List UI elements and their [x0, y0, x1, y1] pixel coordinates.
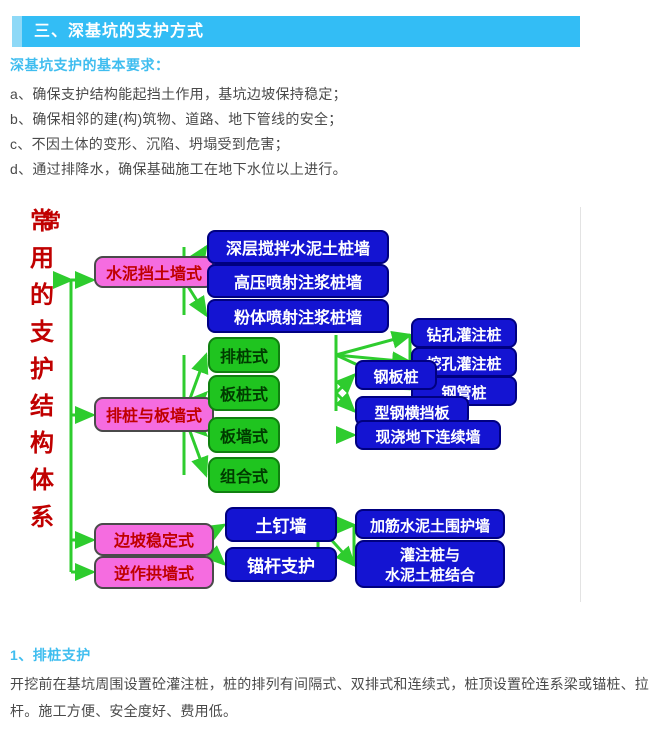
- requirement-item: b、确保相邻的建(构)筑物、道路、地下管线的安全；: [10, 107, 650, 132]
- node-label: 板墙式: [220, 427, 268, 446]
- root-label-char: 的: [30, 281, 54, 309]
- requirement-item: d、通过排降水，确保基础施工在地下水位以上进行。: [10, 157, 650, 182]
- node-row-pile-type[interactable]: 排桩式: [209, 338, 279, 372]
- node-sheet-pile-type[interactable]: 板桩式: [209, 376, 279, 410]
- node-cement-retaining-wall[interactable]: 水泥挡土墙式: [95, 257, 213, 287]
- node-label: 现浇地下连续墙: [375, 428, 480, 446]
- node-label: 组合式: [220, 467, 268, 486]
- node-reverse-arch-wall[interactable]: 逆作拱墙式: [95, 557, 213, 588]
- node-label: 水泥挡土墙式: [106, 264, 202, 283]
- node-label: 钢板桩: [373, 368, 418, 386]
- node-reinforced-cement-soil-retaining-wall[interactable]: 加筋水泥土围护墙: [356, 510, 504, 538]
- root-label-char: 构: [30, 429, 54, 457]
- requirement-item: a、确保支护结构能起挡土作用，基坑边坡保持稳定；: [10, 82, 650, 107]
- node-cast-in-situ-diaphragm-wall[interactable]: 现浇地下连续墙: [356, 421, 500, 449]
- node-label: 粉体喷射注浆桩墙: [234, 308, 362, 327]
- node-label: 型钢横挡板: [374, 404, 450, 422]
- footer-heading: 1、排桩支护: [10, 645, 91, 665]
- node-soil-nailing-wall[interactable]: 土钉墙: [226, 508, 336, 541]
- support-structure-diagram: 常 常用的支护结构体系 水泥挡土墙式 排桩与板墙式 边坡稳定式 逆作拱墙式: [8, 207, 581, 602]
- node-label: 边坡稳定式: [113, 531, 194, 550]
- node-label: 逆作拱墙式: [114, 564, 194, 583]
- root-label-group: 常用的支护结构体系: [30, 208, 55, 531]
- header-accent-bar: [12, 16, 22, 47]
- page-title: 三、深基坑的支护方式: [34, 16, 204, 47]
- node-label: 加筋水泥土围护墙: [369, 517, 490, 535]
- footer-paragraph: 开挖前在基坑周围设置砼灌注桩，桩的排列有间隔式、双排式和连续式，桩顶设置砼连系梁…: [10, 671, 650, 725]
- node-powder-jet-grout-pile-wall[interactable]: 粉体喷射注浆桩墙: [208, 300, 388, 332]
- node-label: 锚杆支护: [247, 556, 315, 576]
- page-root: 三、深基坑的支护方式 深基坑支护的基本要求： a、确保支护结构能起挡土作用，基坑…: [0, 0, 660, 743]
- root-label-char: 支: [30, 319, 55, 346]
- node-label-line2: 水泥土桩结合: [385, 566, 476, 584]
- node-deep-mixing-cement-pile-wall[interactable]: 深层搅拌水泥土桩墙: [208, 231, 388, 263]
- node-label: 钻孔灌注桩: [426, 326, 501, 344]
- root-label-char: 系: [30, 504, 54, 531]
- node-label: 板桩式: [220, 385, 268, 404]
- requirement-item: c、不因土体的变形、沉陷、坍塌受到危害；: [10, 132, 650, 157]
- node-high-pressure-jet-grout-pile-wall[interactable]: 高压喷射注浆桩墙: [208, 265, 388, 297]
- node-cast-pile-with-cement-soil-pile[interactable]: 灌注桩与 水泥土桩结合: [356, 541, 504, 587]
- node-sheet-wall-type[interactable]: 板墙式: [209, 418, 279, 452]
- node-label: 挖孔灌注桩: [426, 355, 501, 373]
- requirements-subtitle: 深基坑支护的基本要求：: [10, 55, 170, 75]
- node-label: 排桩与板墙式: [106, 406, 202, 425]
- node-steel-sheet-pile[interactable]: 钢板桩: [356, 361, 436, 389]
- node-slope-stability[interactable]: 边坡稳定式: [95, 524, 213, 555]
- node-label-line1: 灌注桩与: [400, 546, 460, 564]
- node-anchor-rod-support[interactable]: 锚杆支护: [226, 548, 336, 581]
- section-header: 三、深基坑的支护方式: [12, 16, 580, 47]
- root-label-char: 结: [30, 393, 54, 420]
- node-bored-cast-in-place-pile[interactable]: 钻孔灌注桩: [412, 319, 516, 347]
- root-label-char: 护: [30, 356, 54, 383]
- node-label: 土钉墙: [256, 516, 307, 536]
- node-label: 排桩式: [220, 347, 268, 366]
- node-label: 深层搅拌水泥土桩墙: [226, 239, 370, 258]
- node-row-pile-and-sheet-wall[interactable]: 排桩与板墙式: [95, 398, 213, 431]
- root-label-char: 体: [30, 467, 55, 494]
- node-composite-type[interactable]: 组合式: [209, 458, 279, 492]
- requirements-list: a、确保支护结构能起挡土作用，基坑边坡保持稳定； b、确保相邻的建(构)筑物、道…: [10, 82, 650, 182]
- root-label-char: 用: [30, 245, 54, 272]
- root-label-char: 常: [30, 208, 54, 235]
- node-label: 高压喷射注浆桩墙: [234, 273, 362, 292]
